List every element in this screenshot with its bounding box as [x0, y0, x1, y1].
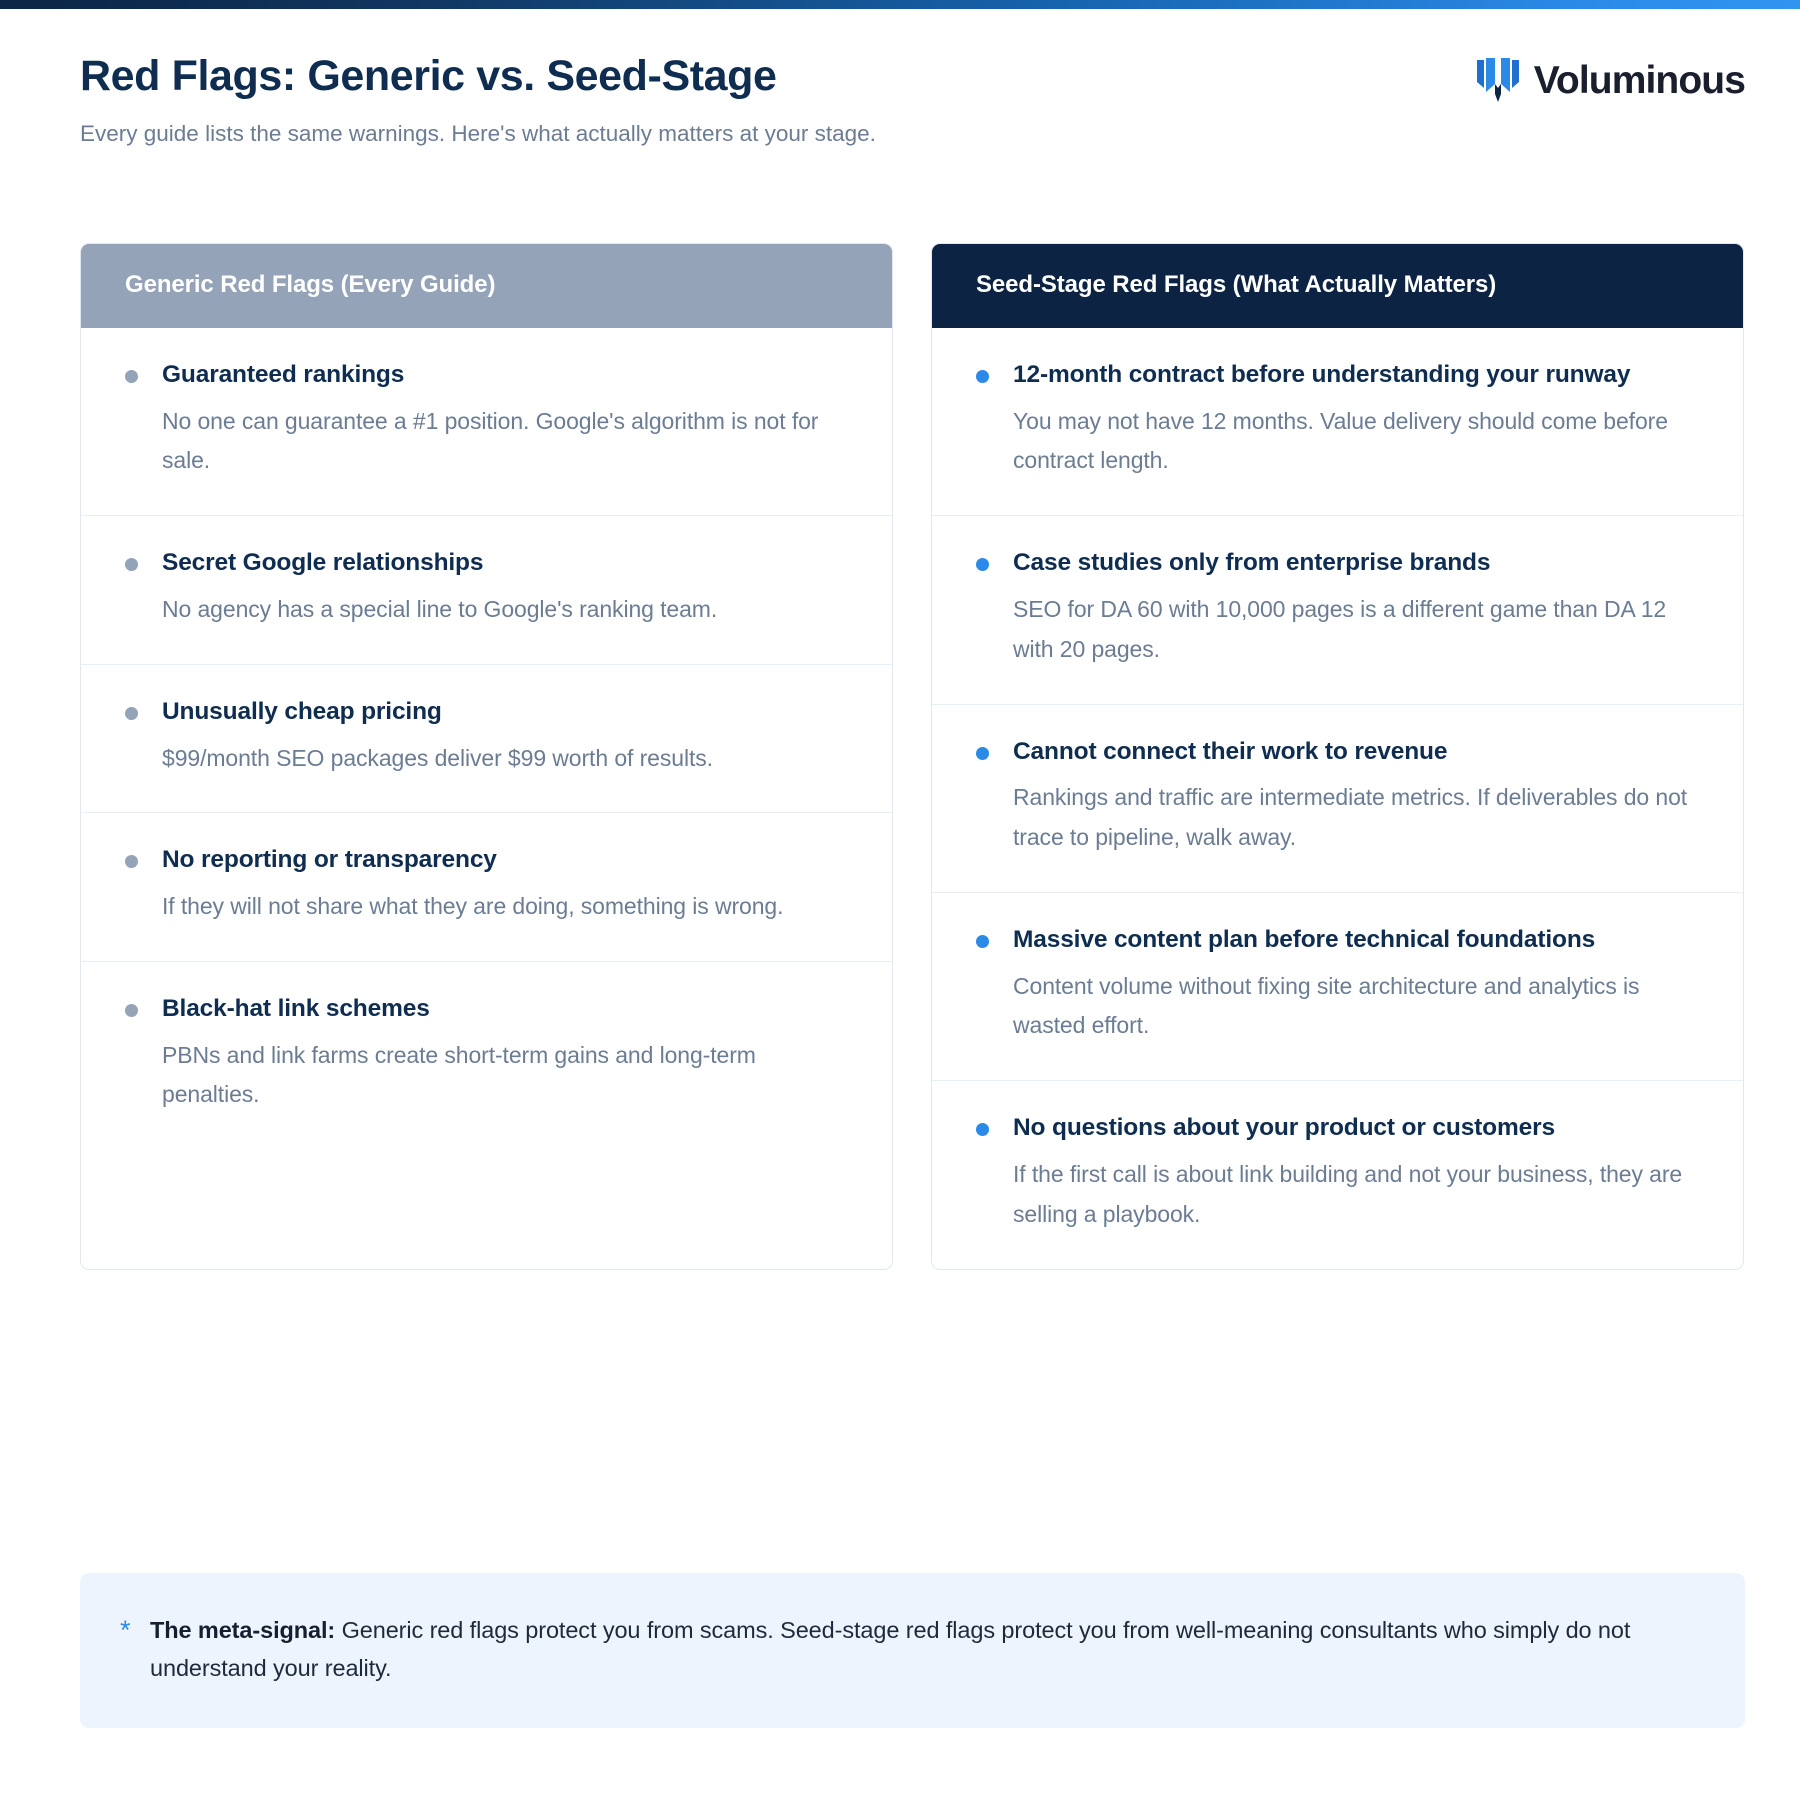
- list-item: Unusually cheap pricing $99/month SEO pa…: [81, 665, 892, 814]
- list-item: Cannot connect their work to revenue Ran…: [932, 705, 1743, 893]
- seed-column-body: 12-month contract before understanding y…: [932, 328, 1743, 1269]
- gray-dot-bullet-icon: [125, 558, 138, 571]
- flag-description: Rankings and traffic are intermediate me…: [1013, 778, 1699, 858]
- brand-name: Voluminous: [1534, 61, 1745, 100]
- flag-description: If the first call is about link building…: [1013, 1155, 1699, 1235]
- flag-title: 12-month contract before understanding y…: [1013, 358, 1699, 392]
- gray-dot-bullet-icon: [125, 855, 138, 868]
- flag-title: Guaranteed rankings: [162, 358, 848, 392]
- flag-description: You may not have 12 months. Value delive…: [1013, 402, 1699, 482]
- list-item: 12-month contract before understanding y…: [932, 328, 1743, 516]
- flag-title: Unusually cheap pricing: [162, 695, 848, 729]
- header-text-block: Red Flags: Generic vs. Seed-Stage Every …: [80, 52, 876, 150]
- flag-description: No one can guarantee a #1 position. Goog…: [162, 402, 848, 482]
- flag-title: Cannot connect their work to revenue: [1013, 735, 1699, 769]
- callout-body: Generic red flags protect you from scams…: [150, 1617, 1630, 1681]
- voluminous-chevron-logo-icon: [1477, 58, 1519, 102]
- flag-description: Content volume without fixing site archi…: [1013, 967, 1699, 1047]
- flag-title: Case studies only from enterprise brands: [1013, 546, 1699, 580]
- blue-dot-bullet-icon: [976, 935, 989, 948]
- gray-dot-bullet-icon: [125, 707, 138, 720]
- flag-title: No reporting or transparency: [162, 843, 848, 877]
- infographic-page: Red Flags: Generic vs. Seed-Stage Every …: [0, 0, 1800, 1800]
- callout-text: The meta-signal: Generic red flags prote…: [150, 1611, 1693, 1688]
- brand-lockup: Voluminous: [1477, 52, 1745, 102]
- meta-signal-callout: * The meta-signal: Generic red flags pro…: [80, 1573, 1745, 1728]
- list-item: Case studies only from enterprise brands…: [932, 516, 1743, 704]
- list-item: Massive content plan before technical fo…: [932, 893, 1743, 1081]
- list-item: Black-hat link schemes PBNs and link far…: [81, 962, 892, 1149]
- blue-dot-bullet-icon: [976, 1123, 989, 1136]
- generic-column-header: Generic Red Flags (Every Guide): [81, 244, 892, 328]
- list-item: Secret Google relationships No agency ha…: [81, 516, 892, 665]
- blue-dot-bullet-icon: [976, 370, 989, 383]
- gray-dot-bullet-icon: [125, 1004, 138, 1017]
- asterisk-icon: *: [120, 1611, 150, 1688]
- list-item: No questions about your product or custo…: [932, 1081, 1743, 1268]
- seed-stage-red-flags-column: Seed-Stage Red Flags (What Actually Matt…: [931, 243, 1744, 1270]
- blue-dot-bullet-icon: [976, 558, 989, 571]
- page-title: Red Flags: Generic vs. Seed-Stage: [80, 52, 876, 100]
- flag-title: No questions about your product or custo…: [1013, 1111, 1699, 1145]
- blue-dot-bullet-icon: [976, 747, 989, 760]
- seed-column-header: Seed-Stage Red Flags (What Actually Matt…: [932, 244, 1743, 328]
- flag-description: SEO for DA 60 with 10,000 pages is a dif…: [1013, 590, 1699, 670]
- flag-title: Massive content plan before technical fo…: [1013, 923, 1699, 957]
- flag-title: Black-hat link schemes: [162, 992, 848, 1026]
- list-item: Guaranteed rankings No one can guarantee…: [81, 328, 892, 516]
- comparison-columns: Generic Red Flags (Every Guide) Guarante…: [80, 243, 1745, 1270]
- page-subtitle: Every guide lists the same warnings. Her…: [80, 119, 876, 149]
- generic-column-body: Guaranteed rankings No one can guarantee…: [81, 328, 892, 1269]
- generic-red-flags-column: Generic Red Flags (Every Guide) Guarante…: [80, 243, 893, 1270]
- gray-dot-bullet-icon: [125, 370, 138, 383]
- flag-description: PBNs and link farms create short-term ga…: [162, 1036, 848, 1116]
- flag-title: Secret Google relationships: [162, 546, 848, 580]
- flag-description: $99/month SEO packages deliver $99 worth…: [162, 739, 848, 779]
- page-header: Red Flags: Generic vs. Seed-Stage Every …: [80, 52, 1745, 150]
- list-item: No reporting or transparency If they wil…: [81, 813, 892, 962]
- callout-lead: The meta-signal:: [150, 1617, 335, 1643]
- top-accent-bar: [0, 0, 1800, 9]
- flag-description: If they will not share what they are doi…: [162, 887, 848, 927]
- flag-description: No agency has a special line to Google's…: [162, 590, 848, 630]
